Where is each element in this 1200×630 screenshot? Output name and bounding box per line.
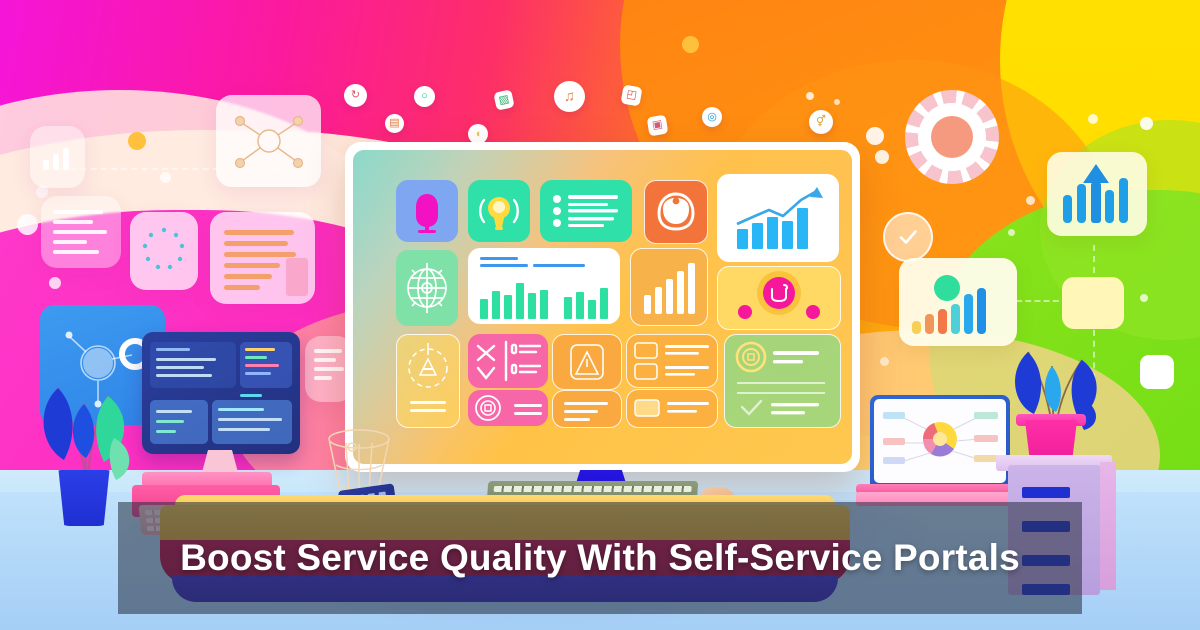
- decor-dot: [834, 99, 840, 105]
- decor-dot: [866, 127, 884, 145]
- bar-chart-up-arrow-icon: [1047, 152, 1147, 236]
- decor-dot: [880, 357, 889, 366]
- chat-circle-icon: [468, 390, 512, 426]
- music-note-icon: ♫: [554, 81, 585, 112]
- bar-chart-icon: [468, 272, 620, 322]
- camera-icon: ◰: [620, 84, 642, 106]
- globe-target-icon: [396, 250, 458, 326]
- incident-tile[interactable]: [552, 334, 622, 390]
- alert-triangle-icon: [553, 335, 621, 389]
- shuffle-icon: [468, 334, 548, 388]
- decor-dot: [806, 92, 814, 100]
- record-icon: ○: [414, 86, 435, 107]
- refresh-icon: ↻: [344, 84, 367, 107]
- photo-icon: ▣: [647, 115, 669, 137]
- avatar-icon: [718, 267, 840, 329]
- ascending-bars-icon: [631, 249, 707, 325]
- checklist-tile[interactable]: [540, 180, 632, 242]
- plant-pot-left: [55, 470, 113, 526]
- alert-gauge-tile[interactable]: [396, 334, 460, 428]
- knowledge-list-tile[interactable]: [626, 334, 718, 388]
- text-lines-ghost-card: [41, 196, 121, 268]
- decor-dot: [875, 150, 889, 164]
- idea-tile[interactable]: [468, 180, 530, 242]
- metrics-tile[interactable]: [630, 248, 708, 326]
- trend-up-chart-icon: [717, 174, 839, 262]
- analytics-card[interactable]: [468, 248, 620, 324]
- bar-chart-ghost-card: [30, 126, 85, 188]
- dashboard-grid: [372, 170, 833, 444]
- laptop-with-mindmap: [870, 395, 1010, 487]
- self-service-portal-monitor: [345, 142, 860, 472]
- laptop-screen: [874, 399, 1006, 483]
- bulleted-list-icon: [540, 180, 632, 242]
- decor-dot: [1026, 196, 1035, 205]
- decor-dot: [49, 277, 61, 289]
- document-ghost-card: [210, 212, 315, 304]
- comment-tile[interactable]: [468, 390, 548, 426]
- decor-dot: [160, 172, 171, 183]
- warning-gauge-icon: [397, 335, 459, 397]
- voice-assistant-tile[interactable]: [396, 180, 458, 242]
- user-profile-tile[interactable]: [717, 266, 841, 330]
- decor-dot: [1008, 229, 1015, 236]
- growth-arrow-card: [1047, 152, 1147, 236]
- plant-left: [28, 330, 158, 490]
- filter-icon: ⚥: [809, 110, 833, 134]
- decor-dot: [128, 132, 146, 150]
- decor-dot: [1088, 114, 1098, 124]
- workflow-tile[interactable]: [468, 334, 548, 388]
- mindmap-diagram: [874, 399, 1006, 483]
- media-row-tile[interactable]: [626, 389, 718, 428]
- microphone-icon: [396, 180, 458, 242]
- network-nodes-icon: [216, 95, 321, 187]
- moon-icon: ◖: [468, 124, 488, 144]
- headset-icon: [645, 181, 707, 243]
- network-ghost-card: [216, 95, 321, 187]
- page-title: Boost Service Quality With Self-Service …: [118, 502, 1082, 614]
- white-accent-square: [1140, 355, 1174, 389]
- gallery-icon: ▤: [385, 114, 404, 133]
- lightbulb-icon: [468, 180, 530, 242]
- circular-dots-ghost-card: [130, 212, 198, 290]
- drawer-handle[interactable]: [1022, 487, 1070, 498]
- list-with-thumbnails-icon: [627, 335, 717, 387]
- circle-icon: ◎: [702, 107, 722, 127]
- support-tile[interactable]: [644, 180, 708, 244]
- globe-tile[interactable]: [396, 250, 458, 326]
- gauge-core: [931, 116, 973, 158]
- decor-dot: [682, 36, 699, 53]
- portal-screen: [353, 150, 852, 464]
- check-circle-icon: [883, 212, 933, 262]
- banner-image: ↻ ▤ ○ ◖ ▨ ♫ ◰ ▣ ◎ ⚥: [0, 0, 1200, 630]
- thumbnail-row-icon: [627, 390, 717, 427]
- note-tile[interactable]: [552, 390, 622, 428]
- resolved-ticket-card[interactable]: [724, 334, 841, 428]
- decor-dot: [1140, 117, 1153, 130]
- developer-monitor: [142, 332, 300, 454]
- plant-right: [990, 300, 1130, 430]
- decor-dot: [17, 214, 38, 235]
- decor-dot: [1140, 294, 1148, 302]
- circular-dots-icon: [130, 212, 198, 290]
- growth-chart-card[interactable]: [717, 174, 839, 262]
- check-circle-icon: [725, 335, 840, 427]
- cabinet-side: [1100, 462, 1116, 590]
